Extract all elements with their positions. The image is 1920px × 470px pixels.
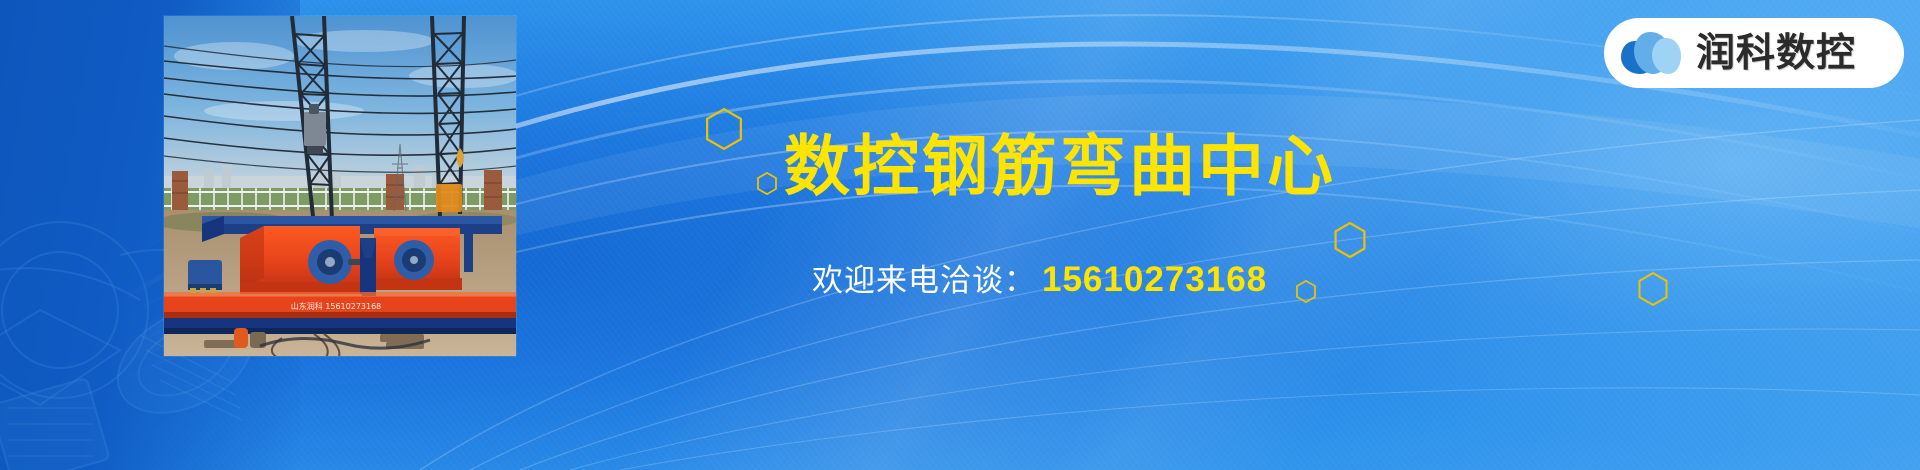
cloud-heart-mark-icon [1620, 28, 1682, 78]
product-photo: 山东润科 15610273168 [164, 16, 516, 356]
contact-phone[interactable]: 15610273168 [1042, 262, 1267, 297]
page-title: 数控钢筋弯曲中心 [784, 133, 1336, 199]
contact-label: 欢迎来电洽谈： [812, 265, 1036, 296]
brand-logo[interactable]: 润科数控 [1604, 18, 1904, 88]
contact-line: 欢迎来电洽谈： 15610273168 [812, 262, 1267, 297]
promo-banner: 山东润科 15610273168 [0, 0, 1920, 470]
brand-name: 润科数控 [1696, 34, 1856, 73]
svg-text:山东润科 15610273168: 山东润科 15610273168 [291, 301, 382, 311]
